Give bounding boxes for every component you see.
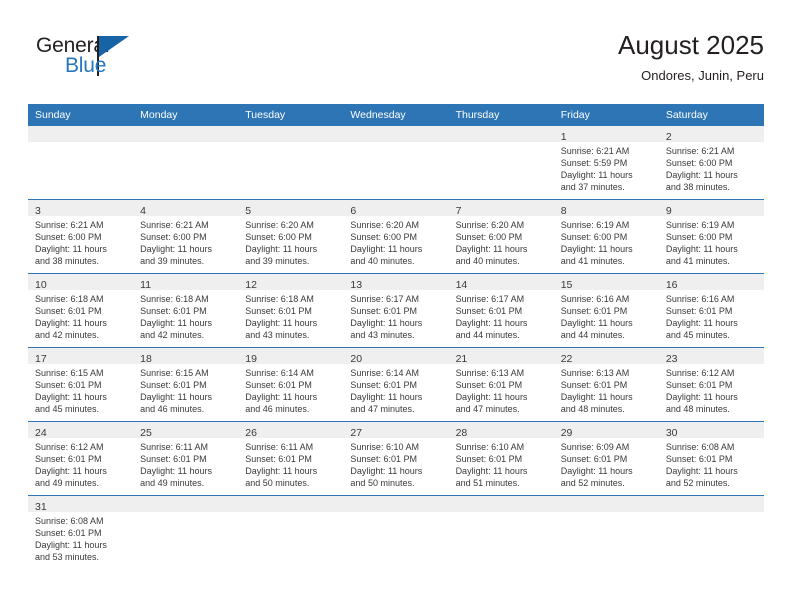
- daylight-line-1: Daylight: 11 hours: [561, 317, 653, 329]
- daylight-line-2: and 49 minutes.: [140, 477, 232, 489]
- day-cell-content: 9Sunrise: 6:19 AMSunset: 6:00 PMDaylight…: [659, 200, 764, 273]
- calendar-day-cell[interactable]: 25Sunrise: 6:11 AMSunset: 6:01 PMDayligh…: [133, 422, 238, 496]
- daylight-line-2: and 43 minutes.: [350, 329, 442, 341]
- daylight-line-2: and 45 minutes.: [666, 329, 758, 341]
- calendar-empty-cell: [238, 496, 343, 570]
- calendar-day-cell[interactable]: 30Sunrise: 6:08 AMSunset: 6:01 PMDayligh…: [659, 422, 764, 496]
- calendar-day-cell[interactable]: 2Sunrise: 6:21 AMSunset: 6:00 PMDaylight…: [659, 126, 764, 200]
- day-number-band: 22: [554, 348, 659, 364]
- daylight-line-1: Daylight: 11 hours: [350, 317, 442, 329]
- day-cell-content: 30Sunrise: 6:08 AMSunset: 6:01 PMDayligh…: [659, 422, 764, 495]
- day-number: 19: [245, 353, 257, 365]
- page-subtitle: Ondores, Junin, Peru: [618, 66, 764, 86]
- daylight-line-2: and 44 minutes.: [561, 329, 653, 341]
- calendar-day-cell[interactable]: 3Sunrise: 6:21 AMSunset: 6:00 PMDaylight…: [28, 200, 133, 274]
- day-sun-info: Sunrise: 6:21 AMSunset: 6:00 PMDaylight:…: [133, 216, 238, 267]
- day-number-band: 12: [238, 274, 343, 290]
- calendar-day-cell[interactable]: 18Sunrise: 6:15 AMSunset: 6:01 PMDayligh…: [133, 348, 238, 422]
- day-number-band: 8: [554, 200, 659, 216]
- day-number-band: 28: [449, 422, 554, 438]
- day-cell-content: 31Sunrise: 6:08 AMSunset: 6:01 PMDayligh…: [28, 496, 133, 569]
- sunrise-line: Sunrise: 6:13 AM: [456, 367, 548, 379]
- day-number-band: 16: [659, 274, 764, 290]
- day-sun-info: Sunrise: 6:21 AMSunset: 6:00 PMDaylight:…: [28, 216, 133, 267]
- calendar-day-cell[interactable]: 6Sunrise: 6:20 AMSunset: 6:00 PMDaylight…: [343, 200, 448, 274]
- day-number-band: 5: [238, 200, 343, 216]
- sunset-line: Sunset: 6:00 PM: [456, 231, 548, 243]
- daylight-line-1: Daylight: 11 hours: [350, 243, 442, 255]
- calendar-day-cell[interactable]: 11Sunrise: 6:18 AMSunset: 6:01 PMDayligh…: [133, 274, 238, 348]
- weekday-header-tuesday: Tuesday: [238, 104, 343, 126]
- sunrise-line: Sunrise: 6:18 AM: [140, 293, 232, 305]
- sunset-line: Sunset: 6:01 PM: [245, 453, 337, 465]
- calendar-day-cell[interactable]: 5Sunrise: 6:20 AMSunset: 6:00 PMDaylight…: [238, 200, 343, 274]
- day-number-band: [28, 126, 133, 142]
- day-number-band: 30: [659, 422, 764, 438]
- sunrise-line: Sunrise: 6:21 AM: [35, 219, 127, 231]
- day-number-band: 4: [133, 200, 238, 216]
- day-sun-info: Sunrise: 6:14 AMSunset: 6:01 PMDaylight:…: [343, 364, 448, 415]
- weekday-header-saturday: Saturday: [659, 104, 764, 126]
- sunset-line: Sunset: 6:01 PM: [350, 453, 442, 465]
- daylight-line-2: and 41 minutes.: [561, 255, 653, 267]
- day-number: 22: [561, 353, 573, 365]
- calendar-page: General Blue August 2025 Ondores, Junin,…: [0, 0, 792, 612]
- day-number: 3: [35, 205, 41, 217]
- calendar-empty-cell: [449, 496, 554, 570]
- weekday-header-monday: Monday: [133, 104, 238, 126]
- day-number-band: [554, 496, 659, 512]
- sunset-line: Sunset: 6:00 PM: [140, 231, 232, 243]
- sunset-line: Sunset: 6:01 PM: [561, 453, 653, 465]
- daylight-line-1: Daylight: 11 hours: [561, 391, 653, 403]
- day-number-band: 7: [449, 200, 554, 216]
- sunset-line: Sunset: 6:01 PM: [245, 305, 337, 317]
- daylight-line-1: Daylight: 11 hours: [350, 465, 442, 477]
- sunrise-line: Sunrise: 6:12 AM: [666, 367, 758, 379]
- day-number: 21: [456, 353, 468, 365]
- day-number: 26: [245, 427, 257, 439]
- day-sun-info: Sunrise: 6:16 AMSunset: 6:01 PMDaylight:…: [659, 290, 764, 341]
- day-number-band: 15: [554, 274, 659, 290]
- sunrise-line: Sunrise: 6:10 AM: [456, 441, 548, 453]
- day-number-band: 3: [28, 200, 133, 216]
- day-sun-info: Sunrise: 6:13 AMSunset: 6:01 PMDaylight:…: [449, 364, 554, 415]
- day-sun-info: Sunrise: 6:11 AMSunset: 6:01 PMDaylight:…: [238, 438, 343, 489]
- daylight-line-2: and 40 minutes.: [456, 255, 548, 267]
- day-cell-content: 13Sunrise: 6:17 AMSunset: 6:01 PMDayligh…: [343, 274, 448, 347]
- day-number: 13: [350, 279, 362, 291]
- day-sun-info: Sunrise: 6:21 AMSunset: 5:59 PMDaylight:…: [554, 142, 659, 193]
- day-cell-content: 4Sunrise: 6:21 AMSunset: 6:00 PMDaylight…: [133, 200, 238, 273]
- daylight-line-2: and 46 minutes.: [140, 403, 232, 415]
- daylight-line-2: and 41 minutes.: [666, 255, 758, 267]
- sunset-line: Sunset: 6:01 PM: [666, 379, 758, 391]
- calendar-day-cell[interactable]: 28Sunrise: 6:10 AMSunset: 6:01 PMDayligh…: [449, 422, 554, 496]
- calendar-day-cell[interactable]: 31Sunrise: 6:08 AMSunset: 6:01 PMDayligh…: [28, 496, 133, 570]
- calendar-day-cell[interactable]: 1Sunrise: 6:21 AMSunset: 5:59 PMDaylight…: [554, 126, 659, 200]
- day-number-band: [238, 496, 343, 512]
- calendar-day-cell[interactable]: 17Sunrise: 6:15 AMSunset: 6:01 PMDayligh…: [28, 348, 133, 422]
- daylight-line-1: Daylight: 11 hours: [666, 465, 758, 477]
- daylight-line-2: and 37 minutes.: [561, 181, 653, 193]
- calendar-week-row: 31Sunrise: 6:08 AMSunset: 6:01 PMDayligh…: [28, 496, 764, 570]
- day-sun-info: Sunrise: 6:18 AMSunset: 6:01 PMDaylight:…: [28, 290, 133, 341]
- day-sun-info: Sunrise: 6:10 AMSunset: 6:01 PMDaylight:…: [449, 438, 554, 489]
- day-sun-info: Sunrise: 6:14 AMSunset: 6:01 PMDaylight:…: [238, 364, 343, 415]
- daylight-line-2: and 51 minutes.: [456, 477, 548, 489]
- day-number: 7: [456, 205, 462, 217]
- calendar-empty-cell: [343, 496, 448, 570]
- daylight-line-2: and 52 minutes.: [666, 477, 758, 489]
- sunset-line: Sunset: 6:01 PM: [456, 379, 548, 391]
- daylight-line-1: Daylight: 11 hours: [35, 391, 127, 403]
- day-cell-content: 25Sunrise: 6:11 AMSunset: 6:01 PMDayligh…: [133, 422, 238, 495]
- sunset-line: Sunset: 5:59 PM: [561, 157, 653, 169]
- sunrise-line: Sunrise: 6:16 AM: [666, 293, 758, 305]
- sunset-line: Sunset: 6:01 PM: [35, 379, 127, 391]
- day-number-band: 14: [449, 274, 554, 290]
- sunrise-line: Sunrise: 6:12 AM: [35, 441, 127, 453]
- day-number: 11: [140, 279, 151, 291]
- day-number: 9: [666, 205, 672, 217]
- calendar-day-cell[interactable]: 14Sunrise: 6:17 AMSunset: 6:01 PMDayligh…: [449, 274, 554, 348]
- sunrise-line: Sunrise: 6:17 AM: [456, 293, 548, 305]
- day-cell-content: [238, 496, 343, 569]
- day-number: 28: [456, 427, 468, 439]
- day-number: 23: [666, 353, 678, 365]
- calendar-day-cell[interactable]: 27Sunrise: 6:10 AMSunset: 6:01 PMDayligh…: [343, 422, 448, 496]
- calendar-empty-cell: [659, 496, 764, 570]
- day-number-band: 26: [238, 422, 343, 438]
- day-cell-content: 3Sunrise: 6:21 AMSunset: 6:00 PMDaylight…: [28, 200, 133, 273]
- calendar-day-cell[interactable]: 26Sunrise: 6:11 AMSunset: 6:01 PMDayligh…: [238, 422, 343, 496]
- daylight-line-1: Daylight: 11 hours: [666, 391, 758, 403]
- calendar-day-cell[interactable]: 20Sunrise: 6:14 AMSunset: 6:01 PMDayligh…: [343, 348, 448, 422]
- calendar-day-cell[interactable]: 21Sunrise: 6:13 AMSunset: 6:01 PMDayligh…: [449, 348, 554, 422]
- calendar-day-cell[interactable]: 12Sunrise: 6:18 AMSunset: 6:01 PMDayligh…: [238, 274, 343, 348]
- daylight-line-1: Daylight: 11 hours: [666, 317, 758, 329]
- day-cell-content: 5Sunrise: 6:20 AMSunset: 6:00 PMDaylight…: [238, 200, 343, 273]
- daylight-line-2: and 45 minutes.: [35, 403, 127, 415]
- calendar-week-row: 17Sunrise: 6:15 AMSunset: 6:01 PMDayligh…: [28, 348, 764, 422]
- daylight-line-1: Daylight: 11 hours: [245, 317, 337, 329]
- day-number-band: [659, 496, 764, 512]
- day-number: 17: [35, 353, 47, 365]
- day-number-band: 17: [28, 348, 133, 364]
- day-number: 5: [245, 205, 251, 217]
- day-cell-content: [238, 126, 343, 199]
- day-number-band: 2: [659, 126, 764, 142]
- day-sun-info: Sunrise: 6:11 AMSunset: 6:01 PMDaylight:…: [133, 438, 238, 489]
- sunset-line: Sunset: 6:01 PM: [140, 379, 232, 391]
- day-sun-info: Sunrise: 6:08 AMSunset: 6:01 PMDaylight:…: [28, 512, 133, 563]
- day-cell-content: [554, 496, 659, 569]
- daylight-line-2: and 50 minutes.: [245, 477, 337, 489]
- daylight-line-1: Daylight: 11 hours: [140, 465, 232, 477]
- daylight-line-1: Daylight: 11 hours: [140, 243, 232, 255]
- day-sun-info: Sunrise: 6:20 AMSunset: 6:00 PMDaylight:…: [343, 216, 448, 267]
- day-number: 31: [35, 501, 47, 513]
- day-number: 10: [35, 279, 47, 291]
- day-number: 27: [350, 427, 362, 439]
- day-sun-info: Sunrise: 6:18 AMSunset: 6:01 PMDaylight:…: [238, 290, 343, 341]
- sunset-line: Sunset: 6:01 PM: [456, 453, 548, 465]
- calendar-empty-cell: [449, 126, 554, 200]
- sunrise-line: Sunrise: 6:14 AM: [350, 367, 442, 379]
- day-sun-info: Sunrise: 6:15 AMSunset: 6:01 PMDaylight:…: [133, 364, 238, 415]
- sunset-line: Sunset: 6:01 PM: [35, 305, 127, 317]
- logo-text-blue: Blue: [65, 54, 106, 78]
- day-number-band: 1: [554, 126, 659, 142]
- day-cell-content: [449, 496, 554, 569]
- sunset-line: Sunset: 6:01 PM: [561, 379, 653, 391]
- sunrise-line: Sunrise: 6:20 AM: [456, 219, 548, 231]
- day-number-band: 24: [28, 422, 133, 438]
- daylight-line-2: and 44 minutes.: [456, 329, 548, 341]
- sunset-line: Sunset: 6:00 PM: [245, 231, 337, 243]
- sunrise-line: Sunrise: 6:21 AM: [666, 145, 758, 157]
- daylight-line-2: and 39 minutes.: [245, 255, 337, 267]
- day-sun-info: Sunrise: 6:09 AMSunset: 6:01 PMDaylight:…: [554, 438, 659, 489]
- sunrise-line: Sunrise: 6:21 AM: [140, 219, 232, 231]
- day-sun-info: Sunrise: 6:15 AMSunset: 6:01 PMDaylight:…: [28, 364, 133, 415]
- day-number-band: 31: [28, 496, 133, 512]
- sunrise-line: Sunrise: 6:19 AM: [561, 219, 653, 231]
- daylight-line-1: Daylight: 11 hours: [35, 243, 127, 255]
- daylight-line-2: and 42 minutes.: [35, 329, 127, 341]
- sunrise-line: Sunrise: 6:14 AM: [245, 367, 337, 379]
- daylight-line-2: and 42 minutes.: [140, 329, 232, 341]
- day-number-band: 27: [343, 422, 448, 438]
- daylight-line-1: Daylight: 11 hours: [456, 317, 548, 329]
- calendar-day-cell[interactable]: 9Sunrise: 6:19 AMSunset: 6:00 PMDaylight…: [659, 200, 764, 274]
- daylight-line-1: Daylight: 11 hours: [561, 243, 653, 255]
- day-number: 18: [140, 353, 152, 365]
- day-cell-content: 15Sunrise: 6:16 AMSunset: 6:01 PMDayligh…: [554, 274, 659, 347]
- day-sun-info: Sunrise: 6:20 AMSunset: 6:00 PMDaylight:…: [449, 216, 554, 267]
- calendar-day-cell[interactable]: 16Sunrise: 6:16 AMSunset: 6:01 PMDayligh…: [659, 274, 764, 348]
- calendar-day-cell[interactable]: 19Sunrise: 6:14 AMSunset: 6:01 PMDayligh…: [238, 348, 343, 422]
- daylight-line-1: Daylight: 11 hours: [245, 243, 337, 255]
- calendar-week-row: 1Sunrise: 6:21 AMSunset: 5:59 PMDaylight…: [28, 126, 764, 200]
- sunset-line: Sunset: 6:00 PM: [350, 231, 442, 243]
- day-cell-content: 8Sunrise: 6:19 AMSunset: 6:00 PMDaylight…: [554, 200, 659, 273]
- sunset-line: Sunset: 6:01 PM: [666, 305, 758, 317]
- day-number: 6: [350, 205, 356, 217]
- day-number: 4: [140, 205, 146, 217]
- calendar-empty-cell: [238, 126, 343, 200]
- calendar-header-row: Sunday Monday Tuesday Wednesday Thursday…: [28, 104, 764, 126]
- day-sun-info: Sunrise: 6:13 AMSunset: 6:01 PMDaylight:…: [554, 364, 659, 415]
- daylight-line-1: Daylight: 11 hours: [140, 391, 232, 403]
- day-number: 12: [245, 279, 257, 291]
- day-sun-info: Sunrise: 6:17 AMSunset: 6:01 PMDaylight:…: [343, 290, 448, 341]
- daylight-line-1: Daylight: 11 hours: [35, 317, 127, 329]
- calendar-day-cell[interactable]: 4Sunrise: 6:21 AMSunset: 6:00 PMDaylight…: [133, 200, 238, 274]
- daylight-line-1: Daylight: 11 hours: [666, 243, 758, 255]
- weekday-header-friday: Friday: [554, 104, 659, 126]
- day-cell-content: 6Sunrise: 6:20 AMSunset: 6:00 PMDaylight…: [343, 200, 448, 273]
- day-cell-content: 16Sunrise: 6:16 AMSunset: 6:01 PMDayligh…: [659, 274, 764, 347]
- daylight-line-1: Daylight: 11 hours: [245, 391, 337, 403]
- sunrise-line: Sunrise: 6:18 AM: [245, 293, 337, 305]
- page-header: General Blue August 2025 Ondores, Junin,…: [28, 28, 764, 98]
- daylight-line-2: and 43 minutes.: [245, 329, 337, 341]
- calendar-empty-cell: [133, 496, 238, 570]
- sunrise-line: Sunrise: 6:13 AM: [561, 367, 653, 379]
- day-number-band: [449, 496, 554, 512]
- day-cell-content: 26Sunrise: 6:11 AMSunset: 6:01 PMDayligh…: [238, 422, 343, 495]
- day-number-band: 19: [238, 348, 343, 364]
- day-cell-content: [449, 126, 554, 199]
- day-number-band: [343, 496, 448, 512]
- daylight-line-2: and 40 minutes.: [350, 255, 442, 267]
- daylight-line-2: and 53 minutes.: [35, 551, 127, 563]
- day-cell-content: 27Sunrise: 6:10 AMSunset: 6:01 PMDayligh…: [343, 422, 448, 495]
- day-number-band: [133, 496, 238, 512]
- calendar-day-cell[interactable]: 15Sunrise: 6:16 AMSunset: 6:01 PMDayligh…: [554, 274, 659, 348]
- sunrise-line: Sunrise: 6:08 AM: [35, 515, 127, 527]
- day-number: 29: [561, 427, 573, 439]
- day-cell-content: [133, 126, 238, 199]
- day-number: 24: [35, 427, 47, 439]
- calendar-empty-cell: [343, 126, 448, 200]
- day-number: 16: [666, 279, 678, 291]
- day-cell-content: 14Sunrise: 6:17 AMSunset: 6:01 PMDayligh…: [449, 274, 554, 347]
- calendar-day-cell[interactable]: 24Sunrise: 6:12 AMSunset: 6:01 PMDayligh…: [28, 422, 133, 496]
- daylight-line-1: Daylight: 11 hours: [561, 169, 653, 181]
- sunset-line: Sunset: 6:01 PM: [35, 453, 127, 465]
- day-cell-content: 1Sunrise: 6:21 AMSunset: 5:59 PMDaylight…: [554, 126, 659, 199]
- calendar-table: Sunday Monday Tuesday Wednesday Thursday…: [28, 104, 764, 569]
- calendar-day-cell[interactable]: 7Sunrise: 6:20 AMSunset: 6:00 PMDaylight…: [449, 200, 554, 274]
- sunset-line: Sunset: 6:01 PM: [456, 305, 548, 317]
- daylight-line-1: Daylight: 11 hours: [456, 391, 548, 403]
- day-sun-info: Sunrise: 6:20 AMSunset: 6:00 PMDaylight:…: [238, 216, 343, 267]
- daylight-line-2: and 47 minutes.: [456, 403, 548, 415]
- day-sun-info: Sunrise: 6:12 AMSunset: 6:01 PMDaylight:…: [28, 438, 133, 489]
- day-number: 1: [561, 131, 567, 143]
- day-sun-info: Sunrise: 6:12 AMSunset: 6:01 PMDaylight:…: [659, 364, 764, 415]
- day-number-band: 13: [343, 274, 448, 290]
- daylight-line-2: and 38 minutes.: [35, 255, 127, 267]
- daylight-line-1: Daylight: 11 hours: [35, 539, 127, 551]
- sunset-line: Sunset: 6:00 PM: [666, 157, 758, 169]
- daylight-line-1: Daylight: 11 hours: [561, 465, 653, 477]
- daylight-line-2: and 49 minutes.: [35, 477, 127, 489]
- sunset-line: Sunset: 6:00 PM: [35, 231, 127, 243]
- daylight-line-2: and 39 minutes.: [140, 255, 232, 267]
- general-blue-logo[interactable]: General Blue: [36, 34, 216, 90]
- sunrise-line: Sunrise: 6:19 AM: [666, 219, 758, 231]
- day-cell-content: [133, 496, 238, 569]
- day-cell-content: 11Sunrise: 6:18 AMSunset: 6:01 PMDayligh…: [133, 274, 238, 347]
- calendar-day-cell[interactable]: 22Sunrise: 6:13 AMSunset: 6:01 PMDayligh…: [554, 348, 659, 422]
- day-cell-content: 12Sunrise: 6:18 AMSunset: 6:01 PMDayligh…: [238, 274, 343, 347]
- day-sun-info: Sunrise: 6:18 AMSunset: 6:01 PMDaylight:…: [133, 290, 238, 341]
- calendar-week-row: 3Sunrise: 6:21 AMSunset: 6:00 PMDaylight…: [28, 200, 764, 274]
- day-sun-info: Sunrise: 6:16 AMSunset: 6:01 PMDaylight:…: [554, 290, 659, 341]
- daylight-line-2: and 46 minutes.: [245, 403, 337, 415]
- calendar-day-cell[interactable]: 8Sunrise: 6:19 AMSunset: 6:00 PMDaylight…: [554, 200, 659, 274]
- day-sun-info: Sunrise: 6:10 AMSunset: 6:01 PMDaylight:…: [343, 438, 448, 489]
- day-cell-content: 29Sunrise: 6:09 AMSunset: 6:01 PMDayligh…: [554, 422, 659, 495]
- daylight-line-1: Daylight: 11 hours: [456, 465, 548, 477]
- day-cell-content: [343, 496, 448, 569]
- page-title: August 2025: [618, 28, 764, 62]
- sunset-line: Sunset: 6:01 PM: [350, 379, 442, 391]
- day-number-band: 10: [28, 274, 133, 290]
- day-number: 2: [666, 131, 672, 143]
- day-number-band: 21: [449, 348, 554, 364]
- daylight-line-2: and 52 minutes.: [561, 477, 653, 489]
- title-block: August 2025 Ondores, Junin, Peru: [618, 28, 764, 86]
- day-cell-content: 17Sunrise: 6:15 AMSunset: 6:01 PMDayligh…: [28, 348, 133, 421]
- daylight-line-2: and 47 minutes.: [350, 403, 442, 415]
- day-number-band: 6: [343, 200, 448, 216]
- day-cell-content: 21Sunrise: 6:13 AMSunset: 6:01 PMDayligh…: [449, 348, 554, 421]
- sunset-line: Sunset: 6:01 PM: [245, 379, 337, 391]
- day-number-band: 9: [659, 200, 764, 216]
- sunset-line: Sunset: 6:01 PM: [666, 453, 758, 465]
- sunrise-line: Sunrise: 6:20 AM: [245, 219, 337, 231]
- day-number-band: 29: [554, 422, 659, 438]
- day-number: 14: [456, 279, 468, 291]
- sunrise-line: Sunrise: 6:21 AM: [561, 145, 653, 157]
- calendar-week-row: 10Sunrise: 6:18 AMSunset: 6:01 PMDayligh…: [28, 274, 764, 348]
- daylight-line-1: Daylight: 11 hours: [666, 169, 758, 181]
- day-number: 20: [350, 353, 362, 365]
- day-cell-content: 28Sunrise: 6:10 AMSunset: 6:01 PMDayligh…: [449, 422, 554, 495]
- day-sun-info: Sunrise: 6:19 AMSunset: 6:00 PMDaylight:…: [554, 216, 659, 267]
- day-number-band: [238, 126, 343, 142]
- sunrise-line: Sunrise: 6:15 AM: [35, 367, 127, 379]
- day-sun-info: Sunrise: 6:17 AMSunset: 6:01 PMDaylight:…: [449, 290, 554, 341]
- calendar-day-cell[interactable]: 23Sunrise: 6:12 AMSunset: 6:01 PMDayligh…: [659, 348, 764, 422]
- sunrise-line: Sunrise: 6:15 AM: [140, 367, 232, 379]
- day-sun-info: Sunrise: 6:21 AMSunset: 6:00 PMDaylight:…: [659, 142, 764, 193]
- day-cell-content: 18Sunrise: 6:15 AMSunset: 6:01 PMDayligh…: [133, 348, 238, 421]
- day-number-band: [343, 126, 448, 142]
- daylight-line-2: and 50 minutes.: [350, 477, 442, 489]
- day-number-band: [133, 126, 238, 142]
- day-sun-info: Sunrise: 6:19 AMSunset: 6:00 PMDaylight:…: [659, 216, 764, 267]
- day-cell-content: [28, 126, 133, 199]
- sunrise-line: Sunrise: 6:11 AM: [140, 441, 232, 453]
- sunset-line: Sunset: 6:01 PM: [140, 305, 232, 317]
- calendar-day-cell[interactable]: 29Sunrise: 6:09 AMSunset: 6:01 PMDayligh…: [554, 422, 659, 496]
- day-number-band: 20: [343, 348, 448, 364]
- calendar-day-cell[interactable]: 13Sunrise: 6:17 AMSunset: 6:01 PMDayligh…: [343, 274, 448, 348]
- calendar-empty-cell: [133, 126, 238, 200]
- daylight-line-1: Daylight: 11 hours: [350, 391, 442, 403]
- weekday-header-thursday: Thursday: [449, 104, 554, 126]
- sunrise-line: Sunrise: 6:20 AM: [350, 219, 442, 231]
- sunrise-line: Sunrise: 6:09 AM: [561, 441, 653, 453]
- calendar-day-cell[interactable]: 10Sunrise: 6:18 AMSunset: 6:01 PMDayligh…: [28, 274, 133, 348]
- sunrise-line: Sunrise: 6:17 AM: [350, 293, 442, 305]
- sunrise-line: Sunrise: 6:11 AM: [245, 441, 337, 453]
- calendar-empty-cell: [28, 126, 133, 200]
- day-number: 15: [561, 279, 573, 291]
- weekday-header-wednesday: Wednesday: [343, 104, 448, 126]
- daylight-line-2: and 38 minutes.: [666, 181, 758, 193]
- day-cell-content: 7Sunrise: 6:20 AMSunset: 6:00 PMDaylight…: [449, 200, 554, 273]
- sunset-line: Sunset: 6:01 PM: [350, 305, 442, 317]
- daylight-line-1: Daylight: 11 hours: [35, 465, 127, 477]
- sunset-line: Sunset: 6:00 PM: [666, 231, 758, 243]
